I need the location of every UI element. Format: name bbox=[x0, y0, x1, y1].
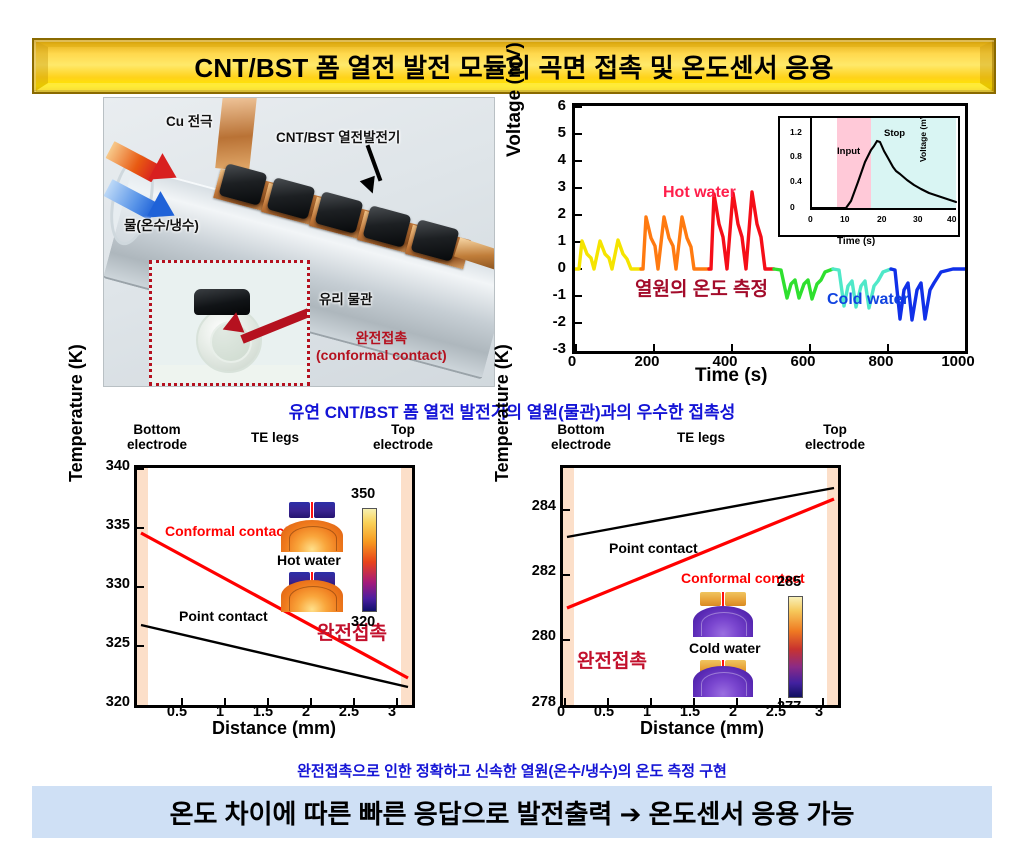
inset-y-label: Voltage (mV) bbox=[918, 116, 928, 162]
ty-right-280: 280 bbox=[522, 628, 556, 644]
ty-right-284: 284 bbox=[522, 498, 556, 514]
inset-input-label: Input bbox=[837, 146, 860, 157]
copper-lead-graphic bbox=[215, 97, 257, 172]
colorbar-cold-max: 285 bbox=[777, 574, 801, 590]
dome-arc-cold-upper bbox=[701, 612, 747, 636]
poster-root: CNT/BST 폼 열전 발전 모듈의 곡면 접촉 및 온도센서 응용 Cu 전… bbox=[0, 0, 1024, 866]
leg-gap-cold bbox=[722, 592, 724, 606]
leg-gap-hot bbox=[311, 502, 313, 518]
vy-tick-4: 4 bbox=[540, 151, 566, 168]
label-cu-electrode: Cu 전극 bbox=[166, 110, 213, 130]
voltage-plot-area: Hot water Cold water 열원의 온도 측정 Voltage (… bbox=[572, 103, 968, 354]
inset-ytick-0_8: 0.8 bbox=[790, 151, 802, 161]
dome-arc-cold-lower bbox=[701, 672, 747, 696]
temp-right-plot-area: Point contact Conformal contact 완전접촉 Col… bbox=[560, 465, 841, 708]
inset-xtick-0: 0 bbox=[808, 214, 813, 224]
header-top-electrode-left: Top electrode bbox=[348, 422, 458, 452]
inset-xtick-30: 30 bbox=[913, 214, 922, 224]
temp-left-plot-area: Conformal contact Point contact 완전접촉 Hot… bbox=[134, 465, 415, 708]
colorbar-hot bbox=[362, 508, 377, 612]
inset-ytick-1_2: 1.2 bbox=[790, 127, 802, 137]
colorbar-hot-min: 320 bbox=[351, 614, 375, 630]
header-bottom-electrode-right: Bottom electrode bbox=[526, 422, 636, 452]
vy-tick-3: 3 bbox=[540, 178, 566, 195]
vx-tick-800: 800 bbox=[861, 353, 901, 370]
temp-right-y-label: Temperature (K) bbox=[492, 344, 513, 482]
te-leg-left-hot bbox=[289, 502, 310, 518]
vx-tick-0: 0 bbox=[558, 353, 586, 370]
bottom-banner-text: 온도 차이에 따른 빠른 응답으로 발전출력 ➔ 온도센서 응용 가능 bbox=[170, 794, 855, 831]
inset-xtick-40: 40 bbox=[947, 214, 956, 224]
bottom-caption: 완전접촉으로 인한 정확하고 신속한 열원(온수/냉수)의 온도 측정 구현 bbox=[0, 760, 1024, 781]
te-leg-left-cold bbox=[700, 592, 721, 606]
colorbar-cold bbox=[788, 596, 803, 698]
te-leg-right-cold bbox=[725, 592, 746, 606]
ty-right-282: 282 bbox=[522, 563, 556, 579]
label-generator: CNT/BST 열전발전기 bbox=[276, 126, 400, 146]
ty-left-325: 325 bbox=[96, 635, 130, 651]
ty-left-320: 320 bbox=[96, 694, 130, 710]
dome-arc-hot-lower bbox=[289, 586, 337, 611]
temperature-chart-cold: Bottom electrode TE legs Top electrode T… bbox=[488, 420, 918, 750]
vx-tick-200: 200 bbox=[627, 353, 667, 370]
vy-tick-6: 6 bbox=[540, 97, 566, 114]
ty-left-330: 330 bbox=[96, 576, 130, 592]
vx-tick-1000: 1000 bbox=[935, 353, 981, 370]
label-water: 물(온수/냉수) bbox=[124, 214, 199, 234]
conformal-en: (conformal contact) bbox=[316, 347, 447, 364]
label-conformal-contact-left: Conformal contact bbox=[165, 523, 289, 539]
label-point-contact-right: Point contact bbox=[609, 540, 698, 556]
vy-tick-m2: -2 bbox=[540, 313, 566, 330]
inset-cold-water-label: Cold water bbox=[689, 640, 761, 656]
label-glass-tube: 유리 물관 bbox=[319, 288, 372, 308]
vy-tick-5: 5 bbox=[540, 124, 566, 141]
voltage-inset-chart: Voltage (mV) 1.2 0.8 0.4 0 0 10 20 30 40… bbox=[778, 116, 960, 237]
conformal-contact-inset bbox=[149, 260, 310, 386]
inset-trace bbox=[780, 118, 958, 235]
vx-tick-600: 600 bbox=[783, 353, 823, 370]
page-title: CNT/BST 폼 열전 발전 모듈의 곡면 접촉 및 온도센서 응용 bbox=[194, 48, 833, 85]
label-korean-conformal-right: 완전접촉 bbox=[577, 646, 647, 673]
vy-tick-m1: -1 bbox=[540, 286, 566, 303]
inset-hot-water-label: Hot water bbox=[277, 552, 341, 568]
inset-x-label: Time (s) bbox=[837, 236, 875, 247]
te-foam-cap bbox=[194, 289, 250, 315]
korean-measurement-label: 열원의 온도 측정 bbox=[635, 274, 768, 301]
ty-left-340: 340 bbox=[96, 458, 130, 474]
voltage-time-chart: Voltage (mV) Time (s) 6 5 4 3 2 1 0 -1 -… bbox=[510, 97, 990, 397]
bottom-banner: 온도 차이에 따른 빠른 응답으로 발전출력 ➔ 온도센서 응용 가능 bbox=[32, 786, 992, 838]
hot-water-label: Hot water bbox=[663, 184, 736, 202]
vy-tick-2: 2 bbox=[540, 205, 566, 222]
header-te-legs-left: TE legs bbox=[220, 430, 330, 445]
conformal-contact-label: 완전접촉 (conformal contact) bbox=[316, 330, 447, 364]
label-point-contact-left: Point contact bbox=[179, 608, 268, 624]
vy-tick-0: 0 bbox=[540, 259, 566, 276]
cold-water-label: Cold water bbox=[827, 291, 909, 309]
header-te-legs-right: TE legs bbox=[646, 430, 756, 445]
colorbar-hot-max: 350 bbox=[351, 486, 375, 502]
temp-left-y-label: Temperature (K) bbox=[66, 344, 87, 482]
te-leg-right-hot bbox=[314, 502, 335, 518]
temp-right-x-label: Distance (mm) bbox=[640, 718, 764, 739]
inset-stop-label: Stop bbox=[884, 128, 905, 139]
conformal-kr: 완전접촉 bbox=[316, 330, 447, 347]
header-top-electrode-right: Top electrode bbox=[780, 422, 890, 452]
inset-ytick-0_0: 0 bbox=[790, 202, 795, 212]
vy-tick-1: 1 bbox=[540, 232, 566, 249]
temperature-chart-hot: Bottom electrode TE legs Top electrode T… bbox=[60, 420, 490, 750]
colorbar-cold-min: 277 bbox=[777, 699, 801, 708]
header-bottom-electrode-left: Bottom electrode bbox=[102, 422, 212, 452]
device-photo: Cu 전극 CNT/BST 열전발전기 물(온수/냉수) 유리 물관 완전접촉 … bbox=[103, 97, 495, 387]
inset-xtick-10: 10 bbox=[840, 214, 849, 224]
ty-left-335: 335 bbox=[96, 517, 130, 533]
dome-arc-hot-upper bbox=[289, 526, 337, 551]
inset-ytick-0_4: 0.4 bbox=[790, 176, 802, 186]
temp-left-x-label: Distance (mm) bbox=[212, 718, 336, 739]
inset-xtick-20: 20 bbox=[877, 214, 886, 224]
vx-tick-400: 400 bbox=[705, 353, 745, 370]
